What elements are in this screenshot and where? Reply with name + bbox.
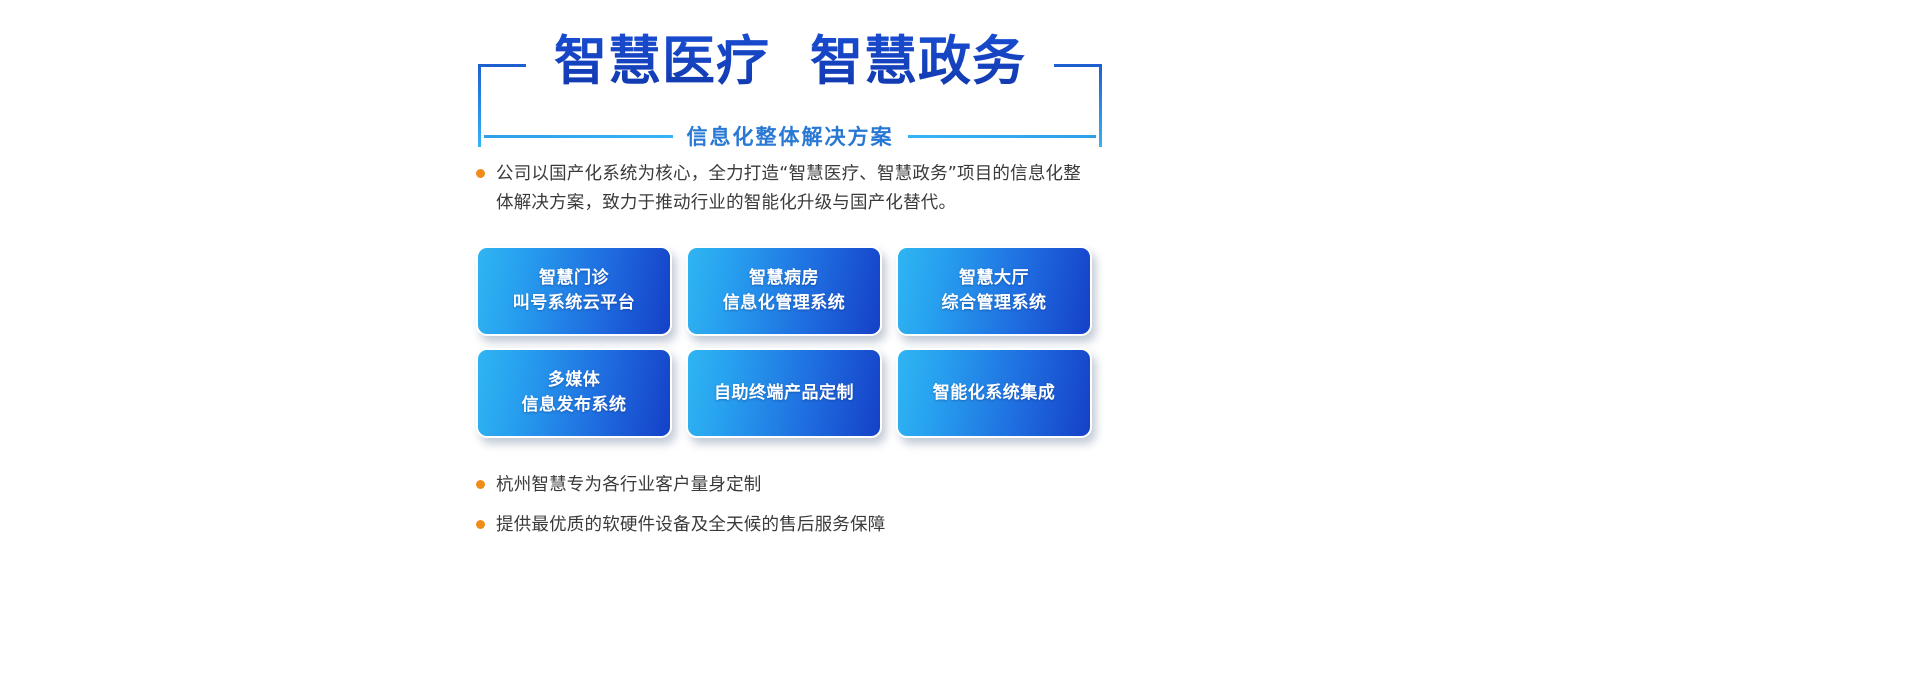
solution-card[interactable]: 智慧大厅 综合管理系统 — [896, 246, 1092, 336]
title-part-1: 智慧医疗 — [554, 31, 770, 92]
subtitle-rule-left — [484, 135, 673, 138]
solution-card-label: 多媒体 信息发布系统 — [522, 368, 627, 418]
solution-card-grid: 智慧门诊 叫号系统云平台 智慧病房 信息化管理系统 智慧大厅 综合管理系统 多媒… — [476, 246, 1092, 438]
bullet-dot-icon — [476, 520, 485, 529]
solution-card-label: 智能化系统集成 — [933, 381, 1056, 406]
page-title: 智慧医疗智慧政务 — [470, 24, 1110, 100]
bullet-dot-icon — [476, 169, 485, 178]
list-item: 杭州智慧专为各行业客户量身定制 — [476, 472, 1096, 498]
solution-card[interactable]: 智能化系统集成 — [896, 348, 1092, 438]
solution-card-label: 智慧病房 信息化管理系统 — [723, 266, 846, 316]
header-block: 智慧医疗智慧政务 信息化整体解决方案 — [470, 24, 1110, 139]
subtitle-rule-right — [908, 135, 1097, 138]
title-part-2: 智慧政务 — [810, 31, 1026, 92]
bullet-dot-icon — [476, 480, 485, 489]
subtitle-row: 信息化整体解决方案 — [484, 121, 1096, 151]
list-item: 提供最优质的软硬件设备及全天候的售后服务保障 — [476, 512, 1096, 538]
intro-text: 公司以国产化系统为核心，全力打造“智慧医疗、智慧政务”项目的信息化整体解决方案，… — [496, 160, 1086, 218]
solution-card-label: 智慧大厅 综合管理系统 — [942, 266, 1047, 316]
solution-card[interactable]: 自助终端产品定制 — [686, 348, 882, 438]
solution-card[interactable]: 智慧病房 信息化管理系统 — [686, 246, 882, 336]
intro-paragraph: 公司以国产化系统为核心，全力打造“智慧医疗、智慧政务”项目的信息化整体解决方案，… — [476, 160, 1086, 218]
footer-bullet-text: 提供最优质的软硬件设备及全天候的售后服务保障 — [496, 512, 885, 538]
solution-card-label: 自助终端产品定制 — [714, 381, 854, 406]
solution-card[interactable]: 多媒体 信息发布系统 — [476, 348, 672, 438]
page-root: 智慧医疗智慧政务 信息化整体解决方案 公司以国产化系统为核心，全力打造“智慧医疗… — [0, 0, 1920, 680]
solution-card-label: 智慧门诊 叫号系统云平台 — [513, 266, 636, 316]
footer-bullet-text: 杭州智慧专为各行业客户量身定制 — [496, 472, 762, 498]
solution-card[interactable]: 智慧门诊 叫号系统云平台 — [476, 246, 672, 336]
page-subtitle: 信息化整体解决方案 — [687, 121, 894, 151]
footer-bullet-list: 杭州智慧专为各行业客户量身定制 提供最优质的软硬件设备及全天候的售后服务保障 — [476, 472, 1096, 552]
